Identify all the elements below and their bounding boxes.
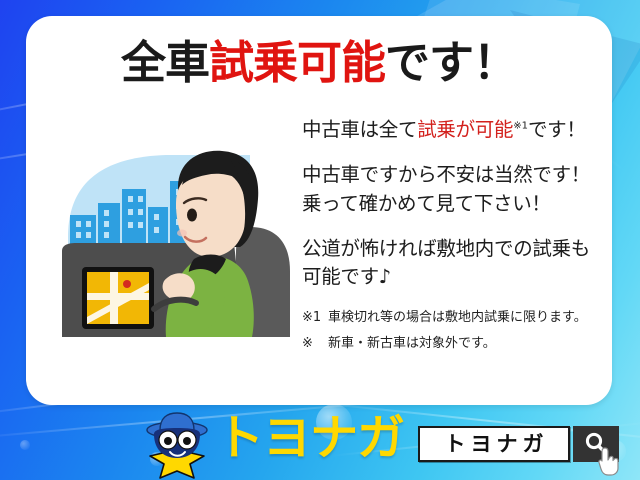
search-input[interactable]: トヨナガ xyxy=(418,426,570,462)
copy-line-1-lead: 中古車は全て xyxy=(302,118,417,141)
body-copy: 中古車は全て試乗が可能※1です！ 中古車ですから不安は当然です！ 乗って確かめて… xyxy=(302,116,602,355)
content-card: 全車試乗可能です！ xyxy=(26,16,612,405)
toyonaga-mascot-icon xyxy=(140,412,214,480)
title-highlight: 試乗可能 xyxy=(209,36,385,89)
copy-line-2: 中古車ですから不安は当然です！ xyxy=(302,161,602,190)
copy-line-5: 可能です♪ xyxy=(302,263,602,292)
copy-line-1-tail: です！ xyxy=(528,118,586,141)
title-part-2: です！ xyxy=(385,36,517,89)
copy-line-1-highlight: 試乗が可能 xyxy=(417,118,513,141)
brand-logo-text: トヨナガ xyxy=(216,414,404,462)
copy-line-4: 公道が怖ければ敷地内での試乗も xyxy=(302,235,602,264)
title-part-1: 全車 xyxy=(121,36,209,89)
footnote-1: ※1車検切れ等の場合は敷地内試乗に限ります。 xyxy=(302,308,602,328)
footer-bar: トヨナガ トヨナガ xyxy=(0,406,640,480)
copy-line-1: 中古車は全て試乗が可能※1です！ xyxy=(302,116,602,145)
footnote-1-mark: ※1 xyxy=(302,308,328,328)
search-input-value: トヨナガ xyxy=(440,434,549,455)
footnote-2-mark: ※ xyxy=(302,334,328,354)
footnote-2: ※新車・新古車は対象外です。 xyxy=(302,334,602,354)
person-driving-car-illustration xyxy=(54,141,306,341)
pointing-hand-cursor-icon xyxy=(596,446,622,476)
footnote-1-text: 車検切れ等の場合は敷地内試乗に限ります。 xyxy=(328,310,587,325)
copy-line-3: 乗って確かめて見て下さい！ xyxy=(302,190,602,219)
page-title: 全車試乗可能です！ xyxy=(26,40,612,85)
footnote-2-text: 新車・新古車は対象外です。 xyxy=(328,336,496,351)
footnote-marker: ※1 xyxy=(513,121,528,132)
